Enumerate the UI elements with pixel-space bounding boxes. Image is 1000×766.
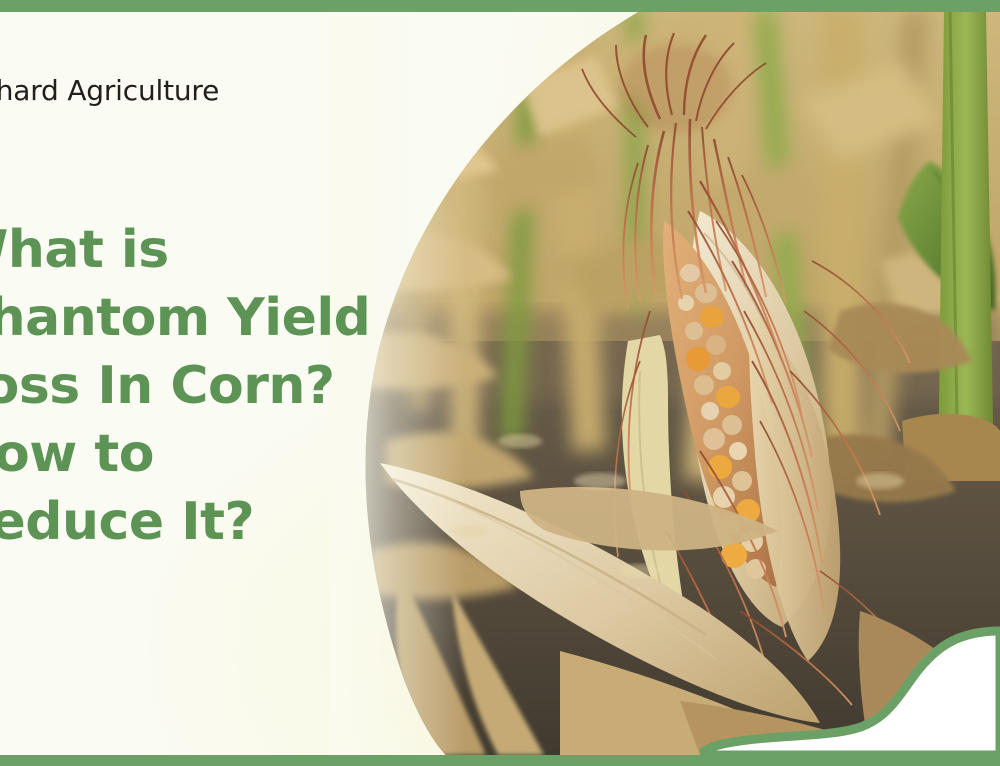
page-title: What is Phantom Yield Loss In Corn? How … (0, 216, 651, 556)
headline-line-5: Reduce It? (0, 488, 651, 556)
headline-line-2: Phantom Yield (0, 284, 651, 352)
headline-line-3: Loss In Corn? (0, 352, 651, 420)
headline-line-1: What is (0, 216, 651, 284)
brand-logo-text[interactable]: Orchard Agriculture (0, 74, 219, 107)
bottom-green-border (0, 755, 1000, 766)
bottom-right-wave-shape (700, 625, 1000, 755)
headline-line-4: How to (0, 420, 651, 488)
blog-banner: Orchard Agriculture What is Phantom Yiel… (0, 0, 1000, 766)
wave-shape-svg (700, 625, 1000, 755)
top-green-border (0, 0, 1000, 12)
